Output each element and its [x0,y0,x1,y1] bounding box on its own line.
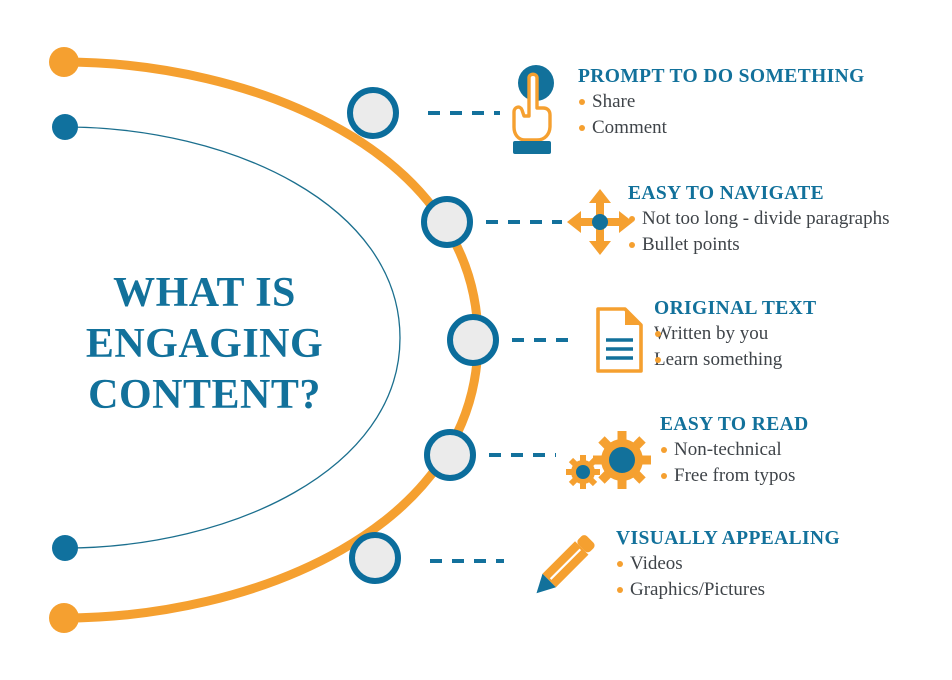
item-prompt-to-do-something: PROMPT TO DO SOMETHING Share Comment [578,66,865,141]
item-visually-appealing: VISUALLY APPEALING Videos Graphics/Pictu… [616,528,840,603]
item-original-text: ORIGINAL TEXT Written by you Learn somet… [586,298,856,373]
bullet-item: Share [578,89,865,115]
arc-node-5[interactable] [352,535,398,581]
orange-dot-top [49,47,79,77]
orange-dot-bottom [49,603,79,633]
four-way-arrows-icon [566,188,634,261]
item-heading: PROMPT TO DO SOMETHING [578,66,865,87]
item-bullets: Non-technical Free from typos [660,437,809,489]
arc-node-1[interactable] [350,90,396,136]
item-heading: EASY TO NAVIGATE [628,183,889,204]
bullet-item: Bullet points [628,232,889,258]
item-heading: VISUALLY APPEALING [616,528,840,549]
item-bullets: Not too long - divide paragraphs Bullet … [628,206,889,258]
bullet-item: Comment [578,115,865,141]
bullet-item: Videos [616,551,840,577]
bullet-item: Not too long - divide paragraphs [628,206,889,232]
bullet-item: Graphics/Pictures [616,577,840,603]
item-easy-to-read: EASY TO READ Non-technical Free from typ… [660,414,809,489]
bullet-item: Written by you [654,321,856,347]
item-bullets: Videos Graphics/Pictures [616,551,840,603]
arc-node-4[interactable] [427,432,473,478]
item-bullets: Share Comment [578,89,865,141]
item-heading: EASY TO READ [660,414,809,435]
gears-icon [566,428,658,495]
item-bullets: Written by you Learn something [654,321,856,373]
blue-dot-top [52,114,78,140]
arc-node-2[interactable] [424,199,470,245]
arc-node-3[interactable] [450,317,496,363]
infographic-canvas: WHAT IS ENGAGING CONTENT? PROMPT TO DO S… [0,0,952,680]
bullet-item: Non-technical [660,437,809,463]
bullet-item: Free from typos [660,463,809,489]
pointing-hand-icon [505,64,567,161]
center-title: WHAT IS ENGAGING CONTENT? [62,268,347,422]
bullet-item: Learn something [654,347,856,373]
item-easy-to-navigate: EASY TO NAVIGATE Not too long - divide p… [628,183,889,258]
pencil-icon [521,524,605,613]
item-heading: ORIGINAL TEXT [654,298,856,319]
blue-dot-bottom [52,535,78,561]
